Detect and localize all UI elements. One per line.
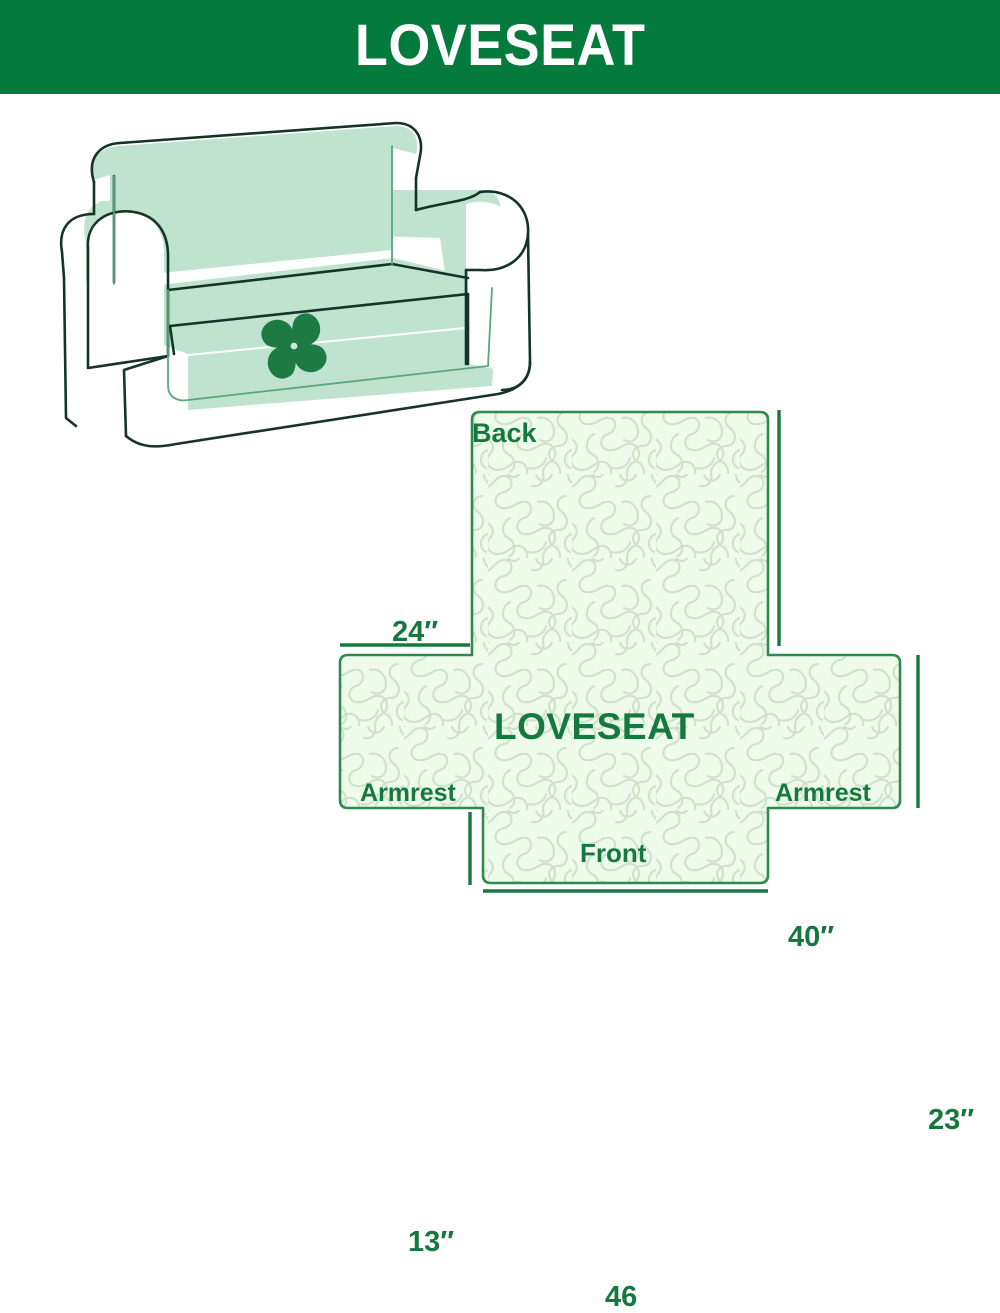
left-arm-front-white [88,212,164,366]
logo-hub [291,343,298,350]
panel-label-center: LOVESEAT [494,708,695,745]
panel-label-front: Front [580,840,646,866]
dimension-label-back-height: 40″ [788,923,834,952]
page-title: LOVESEAT [355,17,645,75]
panel-label-armrest-right: Armrest [775,781,871,806]
header-banner: LOVESEAT [0,0,1000,94]
dimension-label-front-depth: 13″ [408,1228,454,1257]
dimension-label-armrest-height: 23″ [928,1106,974,1135]
dimension-label-back-width: 24″ [392,618,438,647]
product-size-chart: LOVESEAT [0,0,1000,1000]
flat-pattern-diagram: Back LOVESEAT Armrest Armrest Front 40″ … [320,390,1000,960]
pinwheel-fan-logo [261,313,326,378]
dimension-label-front-width: 46 [605,1283,637,1312]
panel-label-back: Back [472,420,537,447]
panel-label-armrest-left: Armrest [360,781,456,806]
